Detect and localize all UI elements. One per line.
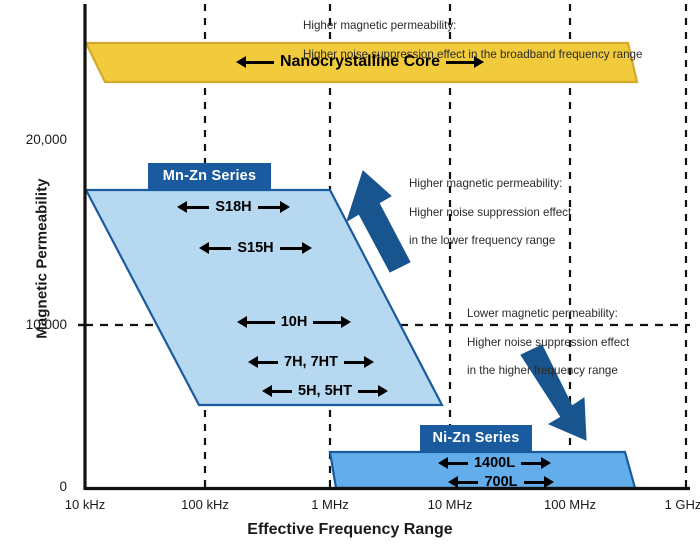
arrow-head-right-icon (280, 201, 290, 213)
marker-label: 10H (275, 314, 314, 330)
arrow-head-left-icon (448, 476, 458, 488)
note-lower-frequency-line3: in the lower frequency range (409, 234, 571, 248)
marker-5h-5ht: 5H, 5HT (245, 381, 405, 401)
y-axis-title: Magnetic Permeability (34, 129, 51, 389)
note-higher-frequency-line3: in the higher frequency range (467, 364, 629, 378)
arrow-shaft (258, 361, 278, 364)
note-lower-frequency-line1: Higher magnetic permeability: (409, 177, 571, 191)
arrow-shaft (521, 462, 541, 465)
arrow-head-left-icon (236, 56, 246, 68)
xtick-label-10khz: 10 kHz (40, 497, 130, 512)
arrow-shaft (448, 462, 468, 465)
ytick-label-0: 0 (0, 479, 67, 494)
xtick-label-1mhz: 1 MHz (285, 497, 375, 512)
arrow-shaft (209, 247, 231, 250)
arrow-shaft (280, 247, 302, 250)
arrow-head-right-icon (541, 457, 551, 469)
marker-label: Nanocrystalline Core (274, 53, 446, 71)
arrow-shaft (272, 390, 292, 393)
arrow-shaft (344, 361, 364, 364)
arrow-shaft (446, 61, 474, 64)
marker-label: 5H, 5HT (292, 383, 358, 399)
marker-700l: 700L (435, 472, 567, 492)
marker-label: 1400L (468, 455, 521, 471)
xtick-label-100mhz: 100 MHz (525, 497, 615, 512)
arrow-head-right-icon (364, 356, 374, 368)
arrow-shaft (247, 321, 275, 324)
arrow-head-right-icon (378, 385, 388, 397)
arrow-head-right-icon (302, 242, 312, 254)
arrow-head-left-icon (177, 201, 187, 213)
marker-nanocrystalline-core: Nanocrystalline Core (230, 52, 490, 72)
marker-1400l: 1400L (424, 453, 565, 473)
note-broadband-line1: Higher magnetic permeability: (303, 19, 642, 33)
arrow-shaft (313, 321, 341, 324)
marker-label: 700L (478, 474, 523, 490)
xtick-label-100khz: 100 kHz (160, 497, 250, 512)
badge-mnzn-series: Mn-Zn Series (148, 163, 271, 189)
marker-10h: 10H (223, 312, 365, 332)
badge-nizn-series: Ni-Zn Series (420, 425, 532, 451)
note-lower-frequency-line2: Higher noise suppression effect (409, 206, 571, 220)
arrow-shaft (458, 481, 478, 484)
arrow-shaft (246, 61, 274, 64)
chart-root: 20,000 10,000 0 10 kHz 100 kHz 1 MHz 10 … (0, 0, 700, 546)
marker-s18h: S18H (160, 197, 307, 217)
arrow-head-left-icon (248, 356, 258, 368)
x-axis-title: Effective Frequency Range (0, 521, 700, 539)
chart-canvas (0, 0, 700, 546)
xtick-label-1ghz: 1 GHz (638, 497, 700, 512)
arrow-shaft (258, 206, 280, 209)
arrow-shaft (187, 206, 209, 209)
arrow-shaft (524, 481, 544, 484)
arrow-head-left-icon (199, 242, 209, 254)
arrow-head-right-icon (474, 56, 484, 68)
arrow-head-left-icon (237, 316, 247, 328)
note-lower-frequency: Higher magnetic permeability: Higher noi… (409, 163, 571, 262)
arrow-head-left-icon (262, 385, 272, 397)
marker-label: S15H (231, 240, 279, 256)
note-higher-frequency-line2: Higher noise suppression effect (467, 336, 629, 350)
note-higher-frequency: Lower magnetic permeability: Higher nois… (467, 293, 629, 392)
marker-7h-7ht: 7H, 7HT (231, 352, 391, 372)
note-higher-frequency-line1: Lower magnetic permeability: (467, 307, 629, 321)
marker-s15h: S15H (182, 238, 329, 258)
xtick-label-10mhz: 10 MHz (405, 497, 495, 512)
arrow-shaft (358, 390, 378, 393)
arrow-head-left-icon (438, 457, 448, 469)
arrow-head-right-icon (341, 316, 351, 328)
arrow-head-right-icon (544, 476, 554, 488)
marker-label: 7H, 7HT (278, 354, 344, 370)
marker-label: S18H (209, 199, 257, 215)
